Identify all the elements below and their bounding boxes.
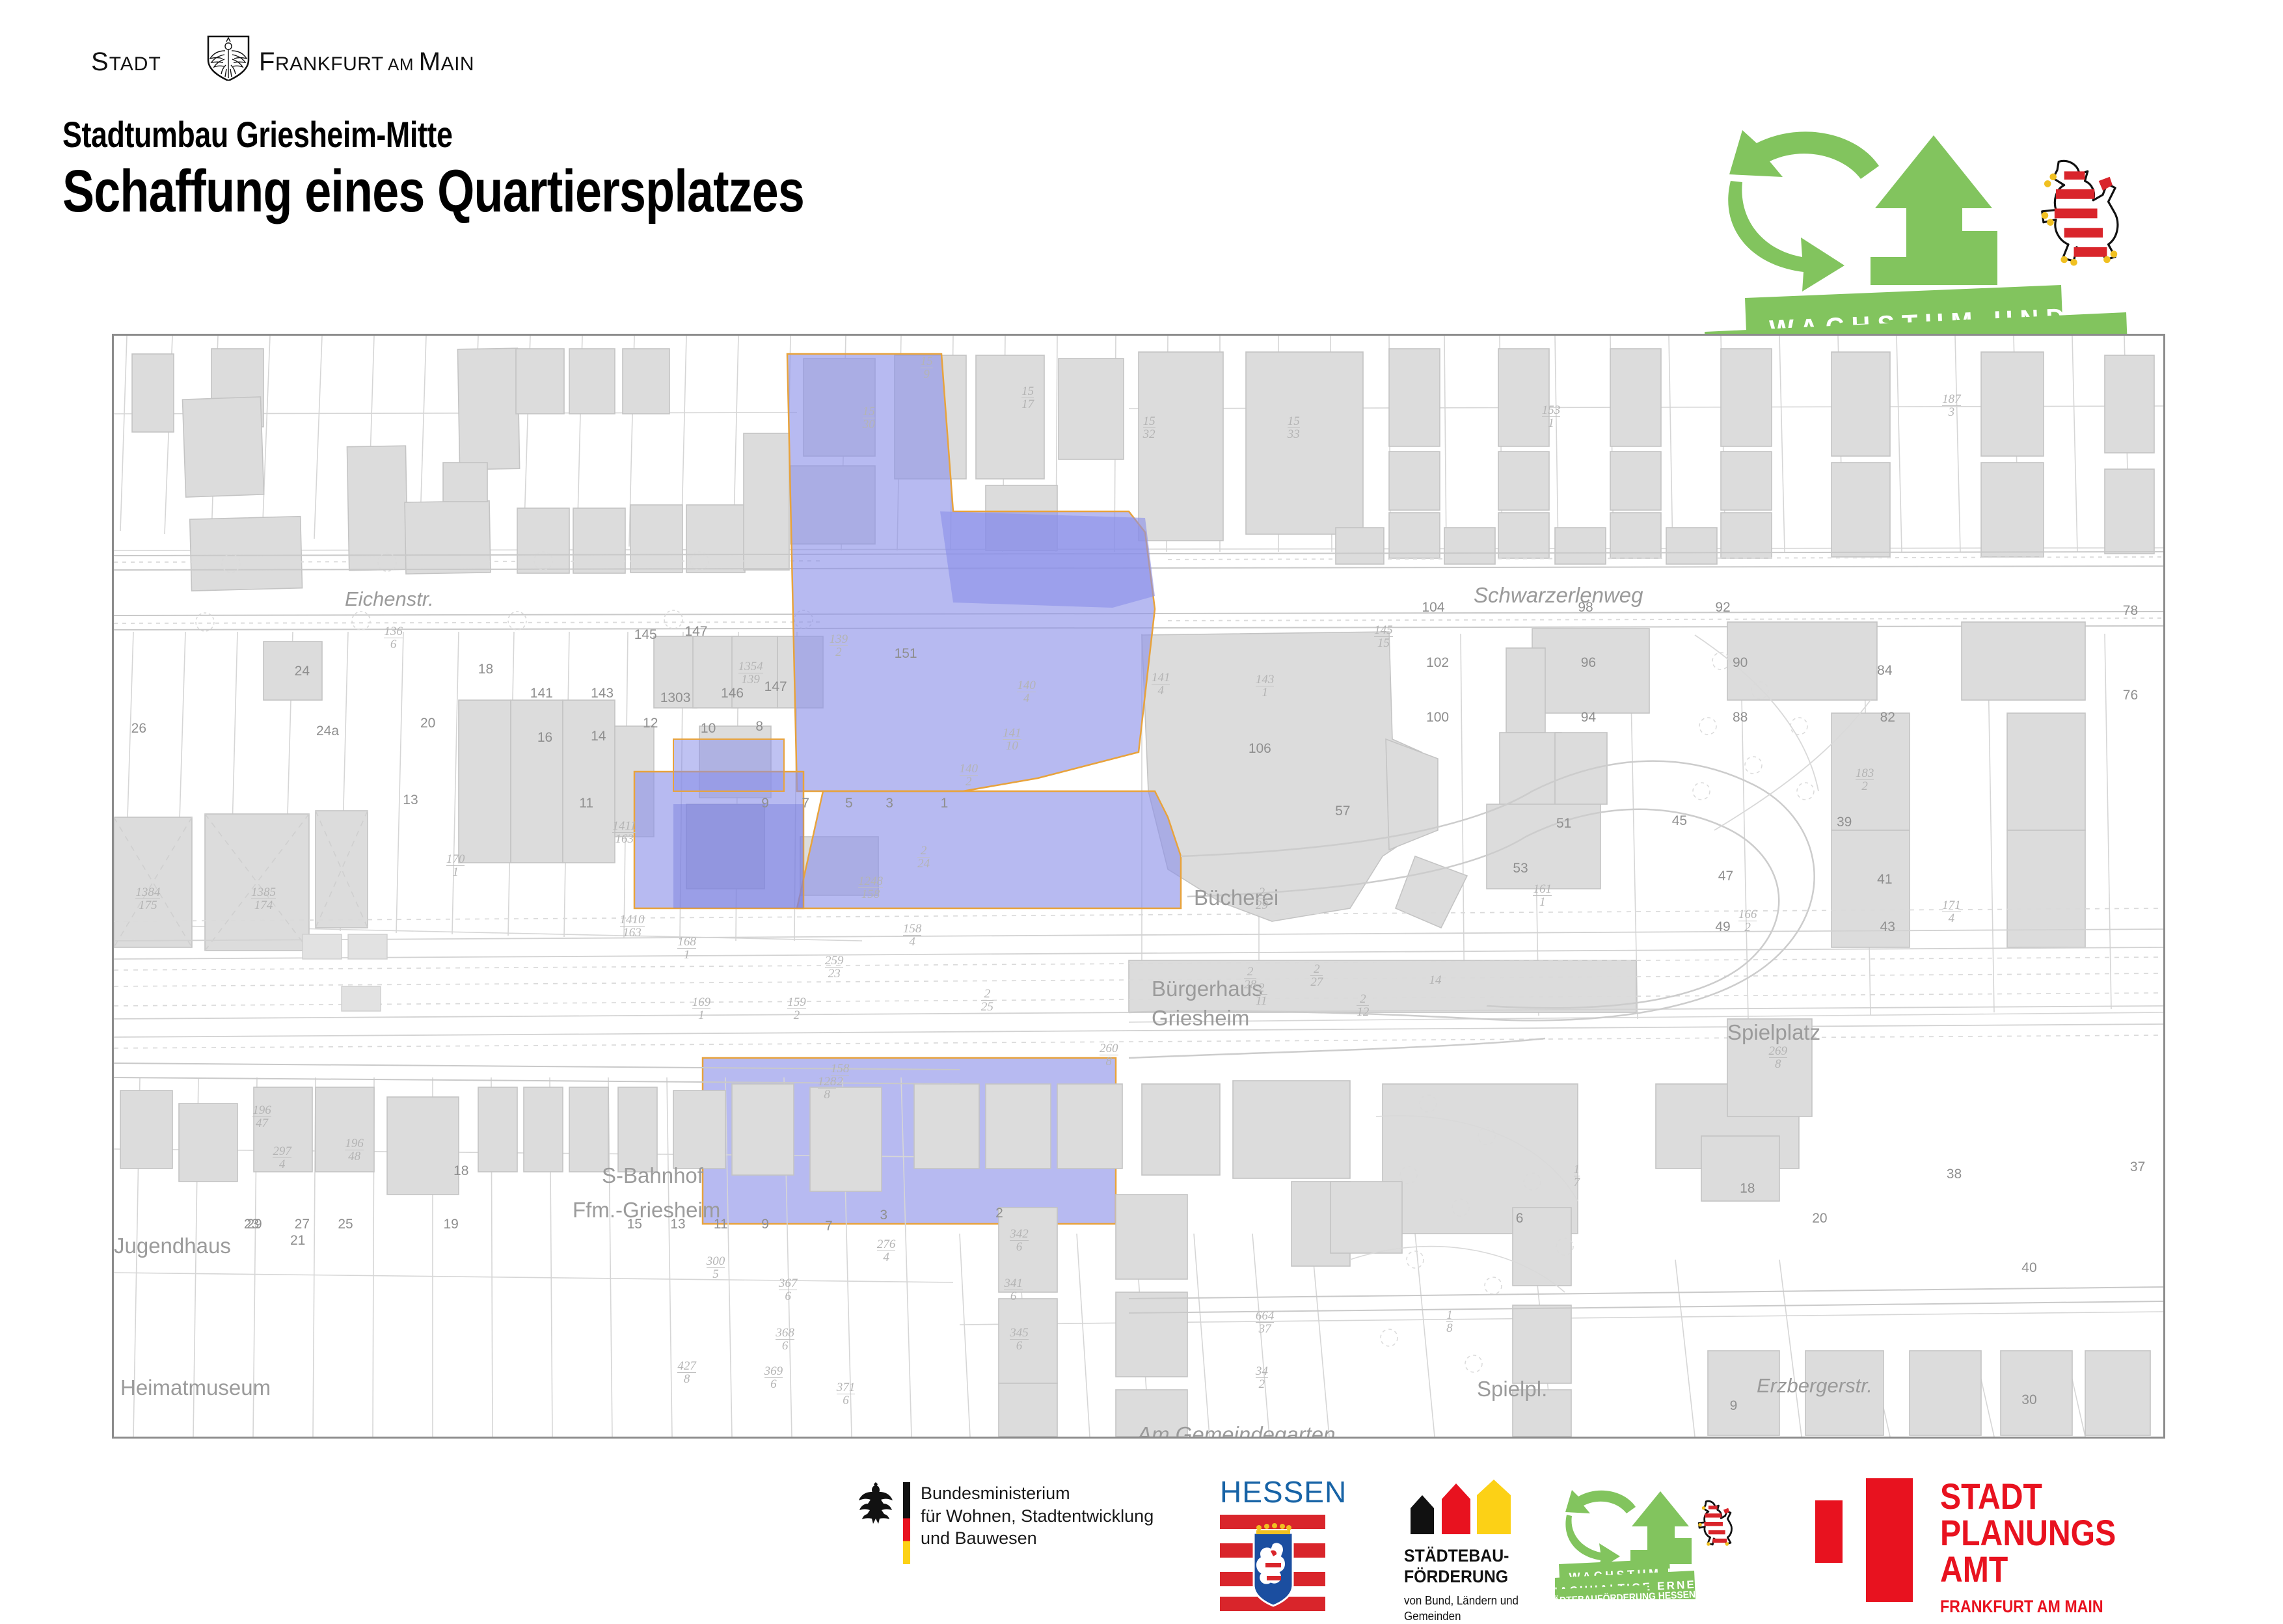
house-number: 18 xyxy=(1740,1181,1755,1197)
svg-text:FRANKFURT AM MAIN: FRANKFURT AM MAIN xyxy=(259,47,474,76)
house-number: 92 xyxy=(1715,600,1730,616)
hessen-wordmark: HESSEN xyxy=(1220,1474,1347,1509)
parcel-number: 14515 xyxy=(1374,624,1393,649)
house-number: 38 xyxy=(1947,1167,1962,1182)
house-number: 3 xyxy=(880,1208,887,1223)
house-number: 47 xyxy=(1718,869,1733,884)
house-number: 10 xyxy=(701,721,716,737)
parcel-number: 1584 xyxy=(903,923,922,948)
house-number: 25 xyxy=(338,1217,353,1232)
program-logo-small: WACHSTUM UND NACHHALTIGE ERNEUERUNG STÄD… xyxy=(1555,1482,1744,1603)
parcel-number: 1414 xyxy=(1152,671,1170,697)
house-number: 78 xyxy=(2123,603,2138,619)
house-number: 90 xyxy=(1733,655,1748,671)
house-number: 11 xyxy=(714,1217,728,1232)
parcel-number: 342 xyxy=(1256,1365,1268,1390)
parcel-number: 3005 xyxy=(707,1255,725,1280)
parcel-number: 1410163 xyxy=(620,913,645,939)
house-number: 12 xyxy=(643,716,658,731)
house-number: 24 xyxy=(295,664,310,679)
parcel-number: 225 xyxy=(981,988,993,1013)
street-label-eichenstr: Eichenstr. xyxy=(345,588,434,611)
place-label-heimatmuseum: Heimatmuseum xyxy=(120,1375,271,1400)
house-number: 20 xyxy=(1812,1211,1827,1226)
house-number: 49 xyxy=(1715,919,1730,935)
parcel-number: 25923 xyxy=(825,954,844,980)
house-number: 9 xyxy=(761,796,769,811)
parcel-number: 17 xyxy=(1574,1163,1580,1189)
street-label-erzbergerstr: Erzbergerstr. xyxy=(1757,1374,1872,1398)
parcel-number: 14110 xyxy=(1003,727,1021,752)
house-number: 9 xyxy=(1730,1398,1738,1414)
house-number: 143 xyxy=(591,686,614,701)
house-number: 14 xyxy=(591,729,606,744)
hessen-lion-crest xyxy=(2042,161,2118,265)
house-number: 145 xyxy=(634,627,657,643)
parcel-number: 211 xyxy=(1256,982,1267,1007)
parcel-number: 2608 xyxy=(1100,1042,1118,1068)
spa-line3: AMT xyxy=(1940,1551,2116,1588)
bmwsb-line3: und Bauwesen xyxy=(921,1527,1154,1550)
parcel-number: 229 xyxy=(1256,886,1268,912)
spa-sub: FRANKFURT AM MAIN xyxy=(1940,1598,2116,1616)
staedtebau-line1: STÄDTEBAU- xyxy=(1404,1545,1516,1566)
house-number: 39 xyxy=(1837,815,1852,830)
house-number: 141 xyxy=(530,686,553,701)
parcel-number: 2974 xyxy=(273,1145,291,1171)
parcel-number: 18 xyxy=(1446,1309,1453,1334)
place-label-s-bahnhof: S-Bahnhof xyxy=(602,1163,703,1188)
kicker-text: Stadtumbau Griesheim-Mitte xyxy=(62,116,1260,154)
staedtebau-sub1: von Bund, Ländern und xyxy=(1404,1593,1519,1608)
parcel-number: 1384175 xyxy=(135,886,160,912)
parcel-number: 1431 xyxy=(1256,673,1275,699)
house-number: 147 xyxy=(764,679,787,695)
spa-line1: STADT xyxy=(1940,1478,2116,1515)
house-number: 9 xyxy=(761,1217,769,1232)
parcel-number: 3456 xyxy=(1010,1327,1029,1352)
house-number: 45 xyxy=(1672,813,1687,829)
house-number: 1303 xyxy=(660,690,691,706)
staedtebau-line2: FÖRDERUNG xyxy=(1404,1566,1516,1587)
house-number: 102 xyxy=(1426,655,1449,671)
staedtebaufoerderung-logo: STÄDTEBAU- FÖRDERUNG von Bund, Ländern u… xyxy=(1404,1480,1526,1624)
house-number: 106 xyxy=(1249,741,1271,757)
spa-line2: PLANUNGS xyxy=(1940,1515,2116,1551)
house-number: 13 xyxy=(403,792,418,808)
house-number: 11 xyxy=(579,796,593,811)
city-logo: STADT FRANKFURT AM MAIN xyxy=(91,30,507,81)
parcel-number: 3416 xyxy=(1004,1277,1023,1303)
parcel-number: 1533 xyxy=(1288,415,1300,440)
house-number: 8 xyxy=(755,719,763,735)
house-number: 104 xyxy=(1422,600,1444,616)
title-block: Stadtumbau Griesheim-Mitte Schaffung ein… xyxy=(62,116,1559,224)
house-number: 98 xyxy=(1578,600,1593,616)
house-number: 6 xyxy=(1516,1211,1524,1226)
parcel-number: 3686 xyxy=(776,1327,794,1352)
bmwsb-line1: Bundesministerium xyxy=(921,1482,1154,1505)
parcel-number: 1248158 xyxy=(858,875,883,900)
house-number: 15 xyxy=(627,1217,642,1232)
parcel-number: 224 xyxy=(917,845,930,870)
recycle-arrow-icon xyxy=(1728,130,1879,291)
place-label-spielpl: Spielpl. xyxy=(1477,1377,1547,1401)
house-number: 18 xyxy=(478,662,493,677)
parcel-number: 3426 xyxy=(1010,1228,1029,1253)
parcel-number: 3716 xyxy=(837,1381,856,1407)
house-number: 19 xyxy=(443,1217,458,1232)
house-number: 57 xyxy=(1335,804,1350,819)
house-number: 18 xyxy=(453,1163,468,1179)
bundesadler-icon xyxy=(859,1482,893,1524)
parcel-number: 1392 xyxy=(830,633,848,658)
staedtebau-sub2: Gemeinden xyxy=(1404,1608,1519,1624)
hessen-logo: HESSEN xyxy=(1220,1474,1347,1614)
parcel-number: 66437 xyxy=(1256,1310,1275,1335)
parcel-number: 4278 xyxy=(677,1360,696,1385)
house-number: 100 xyxy=(1426,710,1449,725)
footer-logo-strip: Bundesministerium für Wohnen, Stadtentwi… xyxy=(0,1464,2283,1614)
parcel-number: 3676 xyxy=(779,1277,798,1303)
place-label-jugendhaus: Jugendhaus xyxy=(114,1234,231,1258)
house-number: 7 xyxy=(825,1219,833,1234)
hessen-lion-crest-small xyxy=(1698,1501,1731,1546)
house-number: 94 xyxy=(1581,710,1596,725)
parcel-number: 1354139 xyxy=(738,660,763,686)
parcel-number: 2764 xyxy=(877,1238,896,1264)
house-number: 41 xyxy=(1877,872,1892,887)
parcel-number: 1532 xyxy=(1143,415,1155,440)
parcel-number: 1404 xyxy=(1017,679,1036,705)
parcel-number: 19648 xyxy=(345,1137,364,1163)
house-arrow-icon xyxy=(1871,135,1997,285)
house-number: 43 xyxy=(1880,919,1895,935)
house-number: 20 xyxy=(420,716,435,731)
parcel-number: 1288 xyxy=(818,1076,837,1101)
parcel-number: 1873 xyxy=(1942,393,1961,418)
map-figure[interactable]: Eichenstr. Schwarzerlenweg Erzbergerstr.… xyxy=(112,334,2165,1439)
house-number: 16 xyxy=(537,730,552,746)
parcel-number: 1714 xyxy=(1942,899,1961,925)
bmwsb-logo: Bundesministerium für Wohnen, Stadtentwi… xyxy=(859,1482,1154,1564)
house-number: 151 xyxy=(895,646,917,662)
house-number: 29 xyxy=(247,1217,262,1232)
house-number: 13 xyxy=(670,1217,685,1232)
house-number: 88 xyxy=(1733,710,1748,725)
house-number: 5 xyxy=(845,796,853,811)
parcel-number: 1681 xyxy=(677,936,696,961)
parcel-number: 212 xyxy=(1357,993,1369,1018)
parcel-number: 1530 xyxy=(863,405,875,431)
place-label-spielplatz: Spielplatz xyxy=(1727,1020,1820,1045)
street-label-schwarzerlenweg: Schwarzerlenweg xyxy=(1474,583,1643,608)
house-number: 40 xyxy=(2021,1260,2036,1276)
house-number: 30 xyxy=(2021,1392,2036,1408)
house-number: 76 xyxy=(2123,688,2138,703)
house-number: 24a xyxy=(316,724,339,739)
house-number: 53 xyxy=(1513,861,1528,876)
svg-text:STADT: STADT xyxy=(91,47,161,76)
house-number: 7 xyxy=(802,796,809,811)
stadtplanungsamt-logo: STADT PLANUNGS AMT FRANKFURT AM MAIN xyxy=(1815,1478,2144,1616)
house-number: 1 xyxy=(941,796,949,811)
parcel-number: 1701 xyxy=(446,853,465,878)
house-number: 26 xyxy=(131,721,146,737)
parcel-number: 227 xyxy=(1310,963,1323,988)
house-number: 146 xyxy=(721,686,744,701)
parcel-number: 159 xyxy=(921,355,933,381)
house-number: 84 xyxy=(1877,663,1892,679)
parcel-number: 2698 xyxy=(1769,1045,1788,1070)
house-number: 21 xyxy=(290,1233,305,1249)
page-title: Schaffung eines Quartiersplatzes xyxy=(62,159,1260,224)
place-label-griesheim: Griesheim xyxy=(1152,1006,1249,1031)
parcel-number: 3696 xyxy=(764,1365,783,1390)
house-number: 147 xyxy=(684,624,707,640)
hessen-shield-icon xyxy=(1220,1513,1325,1611)
house-number: 3 xyxy=(885,796,893,811)
place-label-ffm-griesheim: Ffm.-Griesheim xyxy=(573,1198,720,1223)
parcel-number: 1366 xyxy=(384,625,403,651)
street-label-am-gemeindegarten: Am Gemeindegarten xyxy=(1137,1422,1336,1439)
parcel-number: 1832 xyxy=(1856,767,1874,792)
parcel-number: 1385174 xyxy=(251,886,276,912)
house-number: 27 xyxy=(295,1217,310,1232)
house-number: 82 xyxy=(1880,710,1895,725)
parcel-number: 1592 xyxy=(787,996,806,1022)
map-canvas xyxy=(114,336,2163,1437)
parcel-number: 1531 xyxy=(1542,404,1561,429)
parcel-number: 1411163 xyxy=(612,820,636,845)
house-number: 2 xyxy=(995,1206,1003,1221)
recycle-arrow-icon-small xyxy=(1565,1490,1636,1569)
house-number: 96 xyxy=(1581,655,1596,671)
bmwsb-line2: für Wohnen, Stadtentwicklung xyxy=(921,1505,1154,1528)
house-number: 37 xyxy=(2130,1159,2145,1175)
parcel-number: 14 xyxy=(1429,974,1442,986)
parcel-number: 1691 xyxy=(692,996,711,1022)
parcel-number: 1402 xyxy=(960,763,979,788)
parcel-number: 19647 xyxy=(252,1104,271,1130)
three-houses-icon xyxy=(1404,1480,1515,1534)
house-number: 51 xyxy=(1556,816,1571,832)
parcel-number: 1611 xyxy=(1533,883,1552,908)
spa-red-block-icon xyxy=(1815,1478,1913,1602)
parcel-number: 228 xyxy=(1244,966,1256,991)
parcel-number: 1517 xyxy=(1021,385,1034,411)
parcel-number: 1662 xyxy=(1738,908,1757,934)
